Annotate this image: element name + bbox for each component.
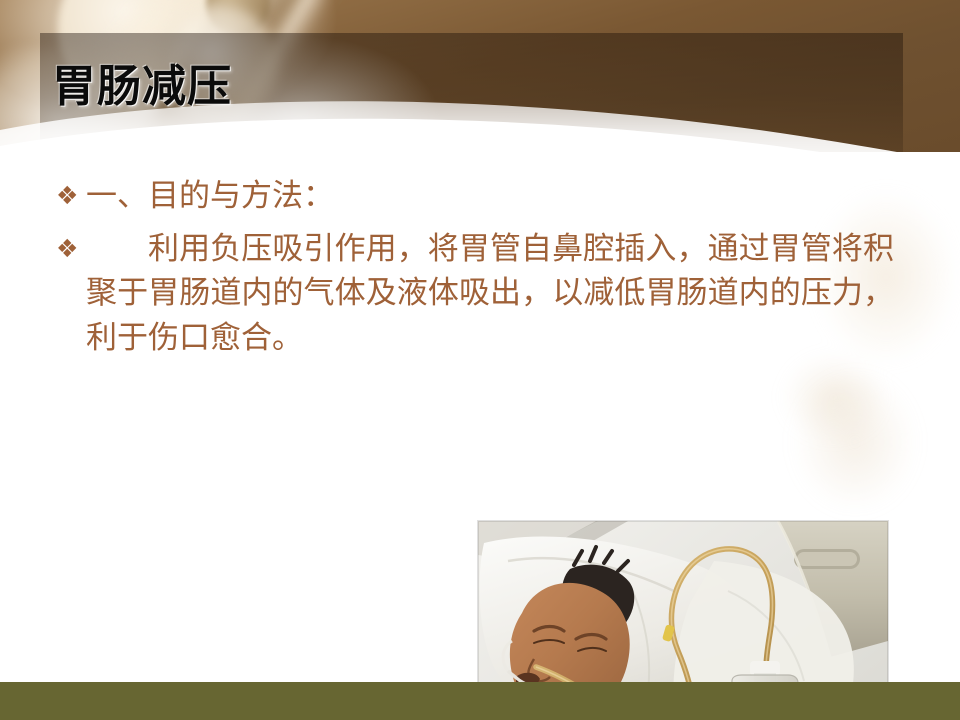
background-watermark-right-2 <box>780 352 930 532</box>
bullet-list: ❖ 一、目的与方法： ❖ 利用负压吸引作用，将胃管自鼻腔插入，通过胃管将积聚于胃… <box>56 174 906 361</box>
bullet-text-heading: 一、目的与方法： <box>86 174 906 219</box>
list-item: ❖ 一、目的与方法： <box>56 174 906 219</box>
presentation-slide: 胃肠减压 ❖ 一、目的与方法： ❖ 利用负压吸引作用，将胃管自鼻腔插入，通过胃管… <box>0 0 960 720</box>
list-item: ❖ 利用负压吸引作用，将胃管自鼻腔插入，通过胃管将积聚于胃肠道内的气体及液体吸出… <box>56 227 906 361</box>
bullet-text-paragraph: 利用负压吸引作用，将胃管自鼻腔插入，通过胃管将积聚于胃肠道内的气体及液体吸出，以… <box>86 227 906 361</box>
footer-bar <box>0 682 960 720</box>
slide-body: ❖ 一、目的与方法： ❖ 利用负压吸引作用，将胃管自鼻腔插入，通过胃管将积聚于胃… <box>0 152 960 682</box>
diamond-cluster-bullet-icon: ❖ <box>56 227 86 270</box>
diamond-cluster-bullet-icon: ❖ <box>56 174 86 217</box>
page-title: 胃肠减压 <box>52 62 232 113</box>
